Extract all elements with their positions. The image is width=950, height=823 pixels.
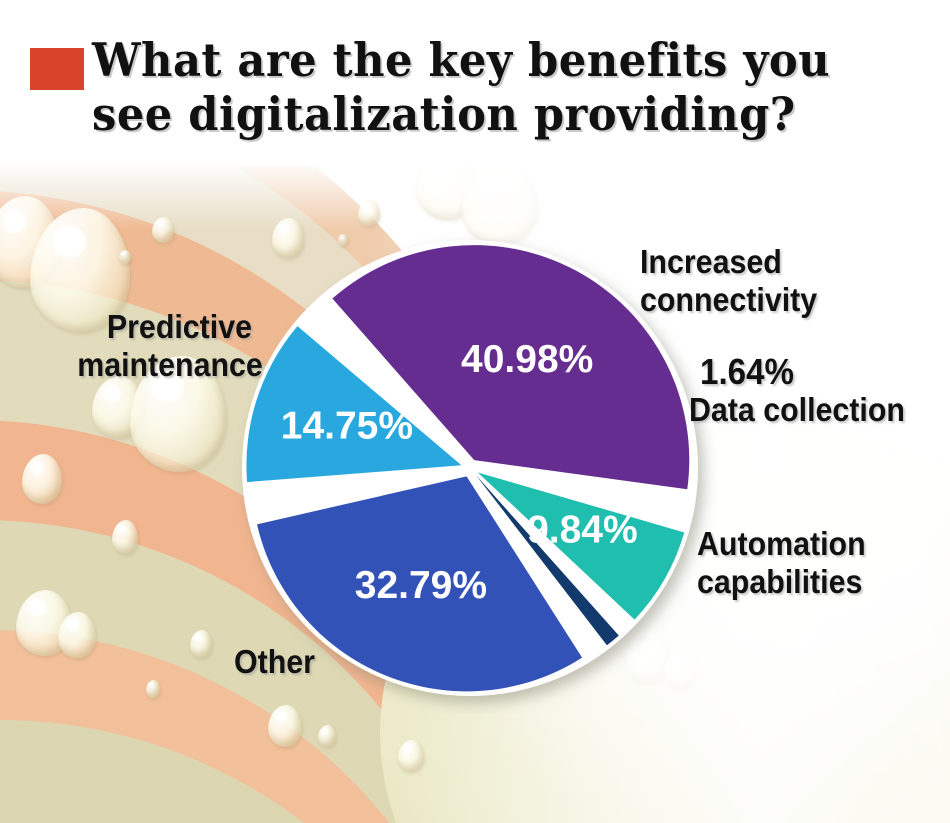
callout-predictive-maintenance: Predictive maintenance <box>77 308 252 384</box>
callout-automation-capabilities: Automation capabilities <box>697 525 866 601</box>
pie-slice-value: 32.79% <box>355 564 487 607</box>
callout-data-collection: 1.64% Data collection <box>689 353 905 429</box>
callout-line-2: connectivity <box>640 281 817 319</box>
callout-line-2: maintenance <box>77 346 252 384</box>
callout-other: Other <box>234 643 315 681</box>
title-line-2: see digitalization providing? <box>92 87 882 141</box>
callout-data-collection-value: 1.64% <box>700 353 905 391</box>
callout-line-1: Increased <box>640 243 817 281</box>
pie-slice-value: 14.75% <box>281 404 413 447</box>
title-block: What are the key benefits you see digita… <box>0 0 950 165</box>
callout-increased-connectivity: Increased connectivity <box>640 243 817 319</box>
title-marker-square <box>30 48 84 90</box>
callout-line-1: Automation <box>697 525 866 563</box>
callout-line-2: capabilities <box>697 563 866 601</box>
pie-slice-value: 40.98% <box>461 338 593 381</box>
callout-data-collection-name: Data collection <box>689 391 905 429</box>
infographic-canvas: What are the key benefits you see digita… <box>0 0 950 823</box>
pie-slice-value: 9.84% <box>527 508 638 551</box>
background-wash-top <box>0 160 950 230</box>
callout-line-1: Predictive <box>77 308 252 346</box>
callout-line-1: Other <box>234 643 315 681</box>
page-title: What are the key benefits you see digita… <box>92 33 882 141</box>
title-line-1: What are the key benefits you <box>92 33 882 87</box>
